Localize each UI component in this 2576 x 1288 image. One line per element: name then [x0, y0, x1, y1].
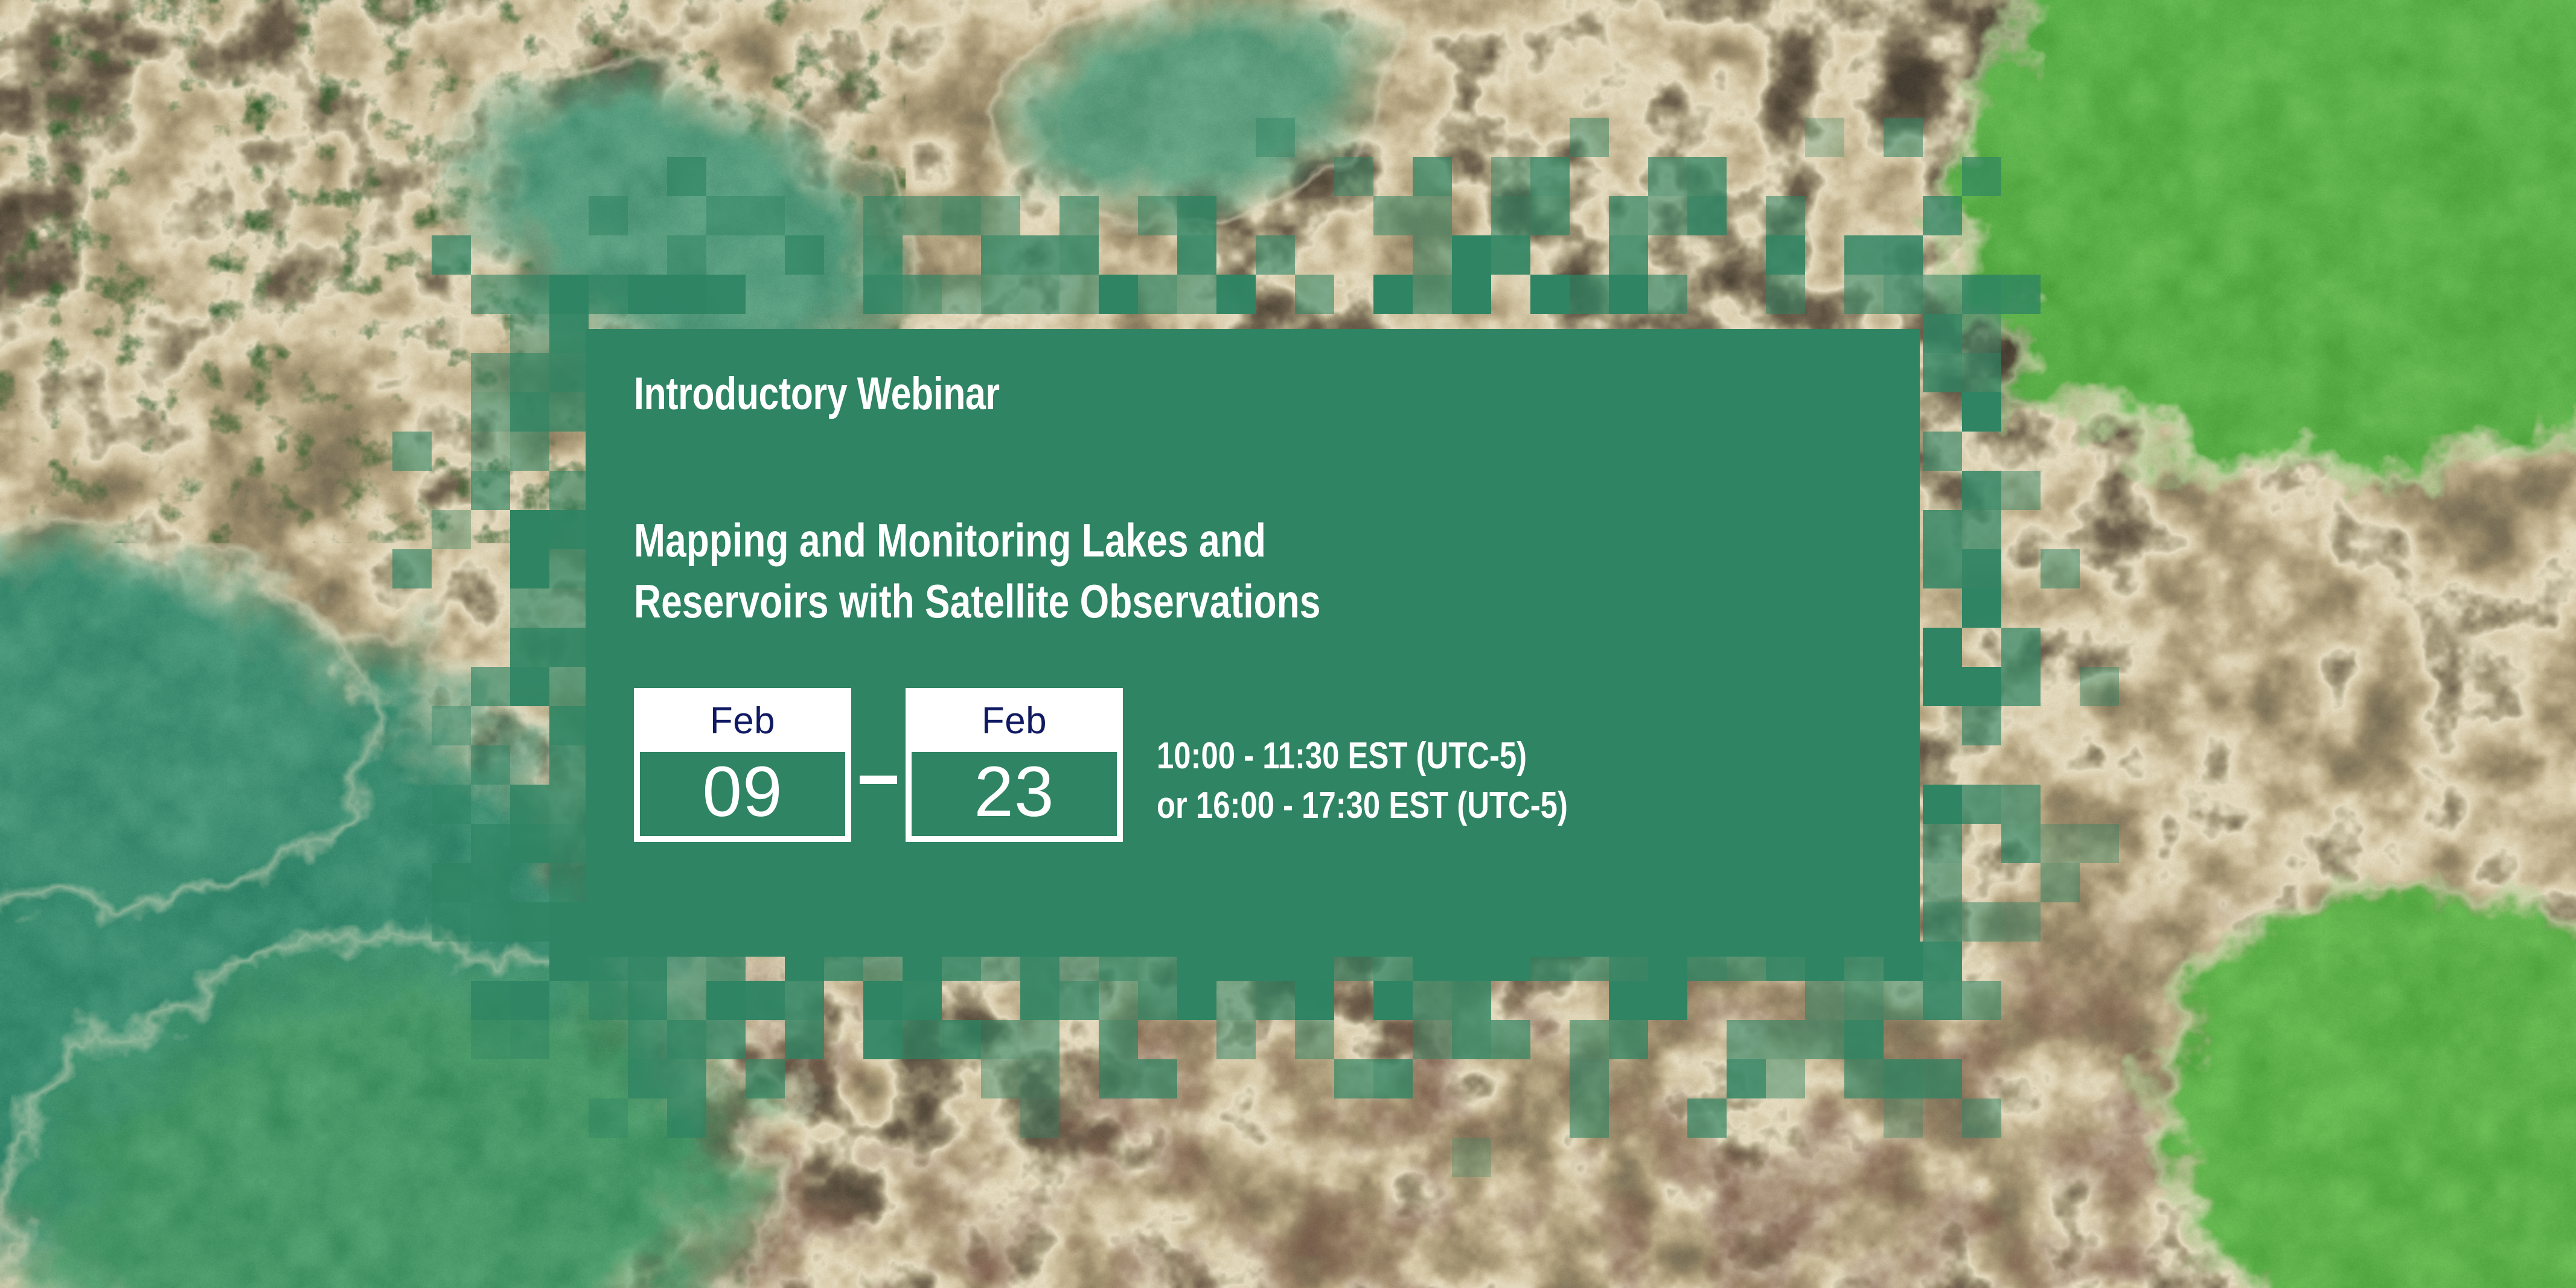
webinar-promo-banner: Introductory Webinar Mapping and Monitor… — [0, 0, 2576, 1288]
start-date-card: Feb 09 — [634, 688, 851, 842]
session-time-option-1: 10:00 - 11:30 EST (UTC-5) — [1157, 732, 1568, 781]
start-date-day-box: 09 — [640, 752, 845, 836]
session-time-option-2: or 16:00 - 17:30 EST (UTC-5) — [1157, 781, 1568, 831]
end-date-day-box: 23 — [912, 752, 1117, 836]
date-range-separator — [851, 776, 906, 784]
end-date-month: Feb — [912, 694, 1117, 752]
dash-icon — [860, 776, 897, 784]
end-date-card: Feb 23 — [906, 688, 1123, 842]
start-date-month: Feb — [640, 694, 845, 752]
content-block: Introductory Webinar Mapping and Monitor… — [634, 329, 1902, 957]
start-date-day: 09 — [640, 754, 845, 830]
session-times: 10:00 - 11:30 EST (UTC-5) or 16:00 - 17:… — [1157, 732, 1568, 831]
eyebrow-label: Introductory Webinar — [634, 371, 1000, 417]
date-range: Feb 09 Feb 23 10:00 - 11:30 EST (UTC-5) … — [634, 688, 1658, 842]
page-title: Mapping and Monitoring Lakes and Reservo… — [634, 510, 1321, 633]
page-title-line-1: Mapping and Monitoring Lakes and — [634, 510, 1321, 571]
end-date-day: 23 — [912, 754, 1117, 830]
page-title-line-2: Reservoirs with Satellite Observations — [634, 571, 1321, 632]
